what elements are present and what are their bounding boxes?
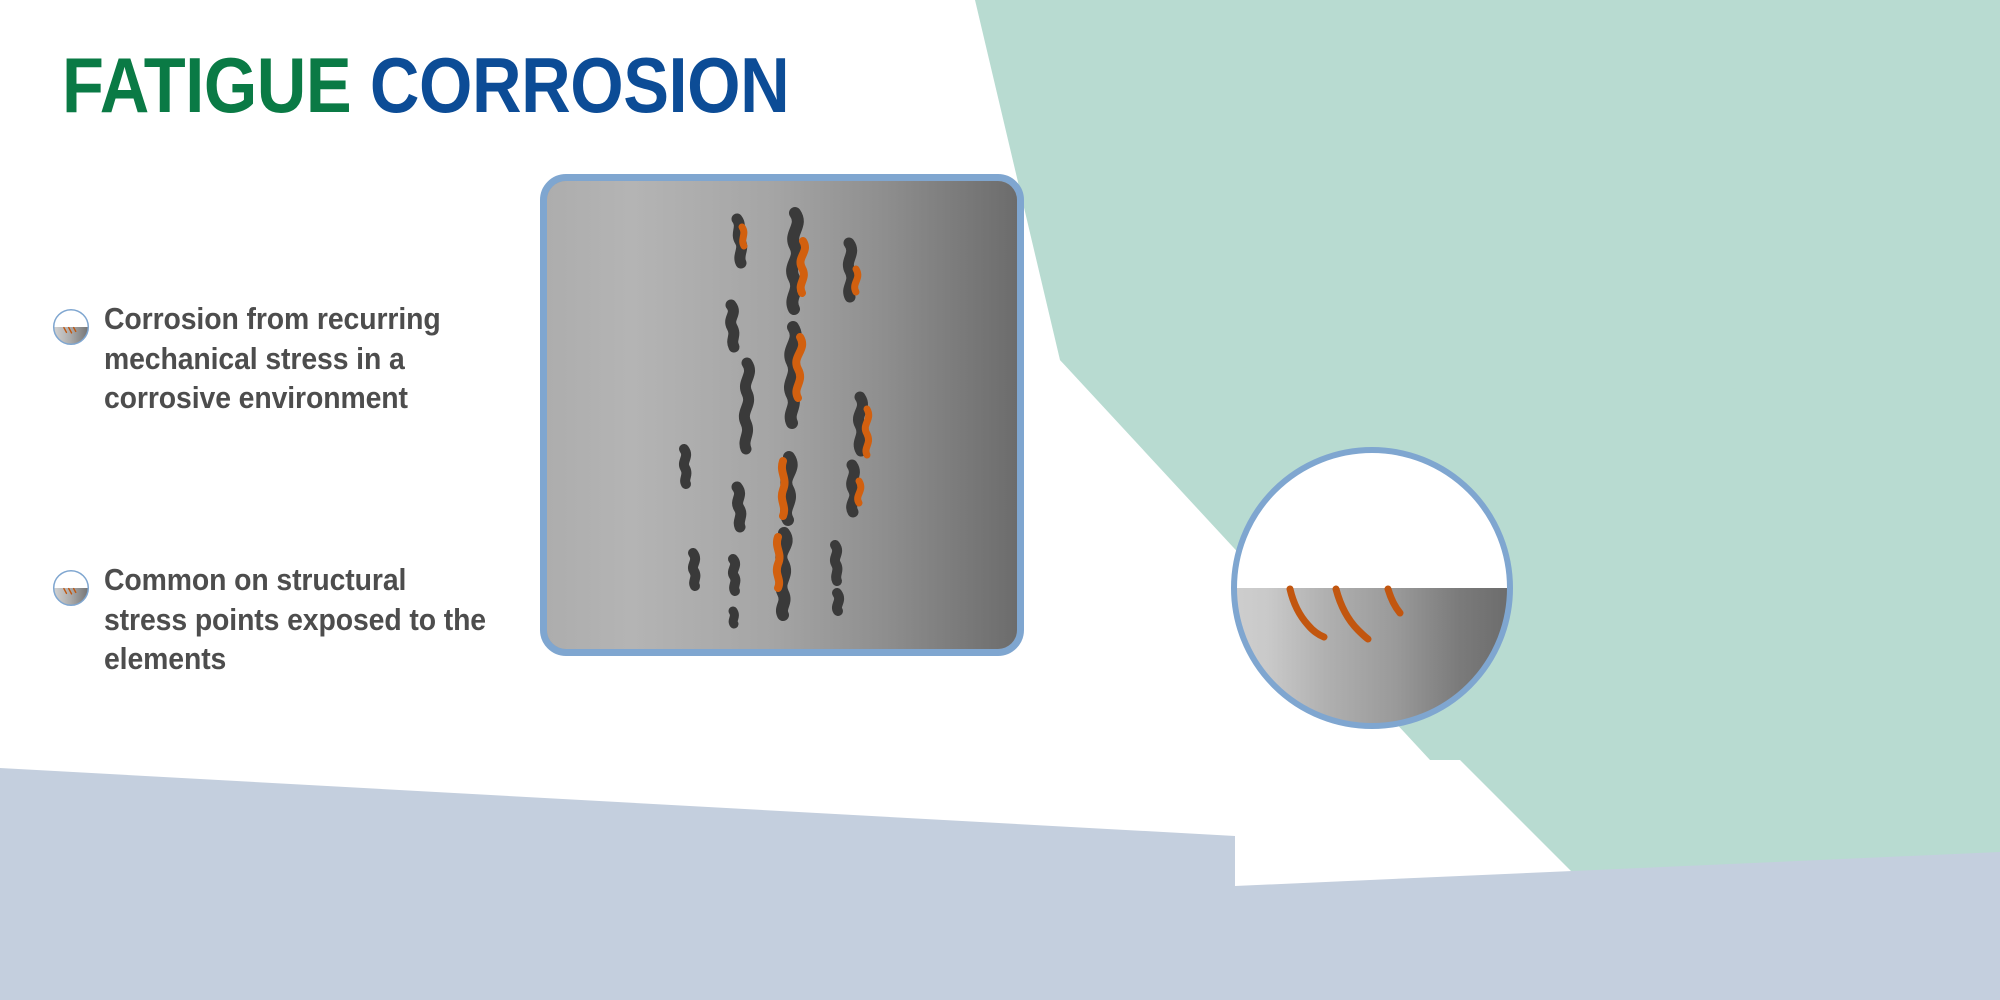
infographic-canvas: FATIGUE CORROSION — [0, 0, 2000, 1000]
rust-c1 — [855, 269, 858, 292]
list-item: Corrosion from recurring mechanical stre… — [52, 300, 522, 419]
list-item-label: Common on structural stress points expos… — [104, 561, 493, 680]
corroded-metal-circle-icon — [52, 569, 90, 607]
crack-a4 — [737, 487, 741, 527]
crack-b2 — [790, 327, 796, 423]
rust-b3 — [782, 461, 785, 516]
crack-a3 — [744, 363, 749, 449]
corroded-metal-circle-icon — [52, 308, 90, 346]
bullet-list: Corrosion from recurring mechanical stre… — [52, 300, 522, 738]
list-item-label: Corrosion from recurring mechanical stre… — [104, 300, 493, 419]
rust-b4 — [777, 537, 780, 588]
rust-a1 — [742, 227, 744, 246]
crack-c4 — [835, 545, 837, 581]
rust-c2 — [865, 409, 868, 455]
list-item: Common on structural stress points expos… — [52, 561, 522, 680]
title-word-fatigue: FATIGUE — [62, 41, 351, 129]
magnified-crack-detail — [1228, 444, 1516, 732]
crack-c2 — [858, 397, 862, 451]
rust-b1 — [800, 241, 805, 293]
crack-d2 — [693, 553, 695, 586]
magnifier-metal-surface — [1228, 588, 1516, 732]
crack-a5 — [733, 559, 735, 591]
crack-b4 — [781, 533, 786, 615]
title-word-corrosion: CORROSION — [370, 41, 789, 129]
crack-d3 — [733, 611, 734, 624]
rust-c3 — [858, 481, 861, 503]
panel-crack-illustration — [547, 181, 1017, 649]
crack-c5 — [837, 593, 839, 611]
crack-c3 — [852, 465, 855, 512]
corroded-metal-panel — [540, 174, 1024, 656]
page-title: FATIGUE CORROSION — [62, 46, 789, 124]
crack-d1 — [684, 449, 686, 484]
crack-c1 — [848, 243, 851, 297]
crack-a2 — [731, 305, 734, 347]
